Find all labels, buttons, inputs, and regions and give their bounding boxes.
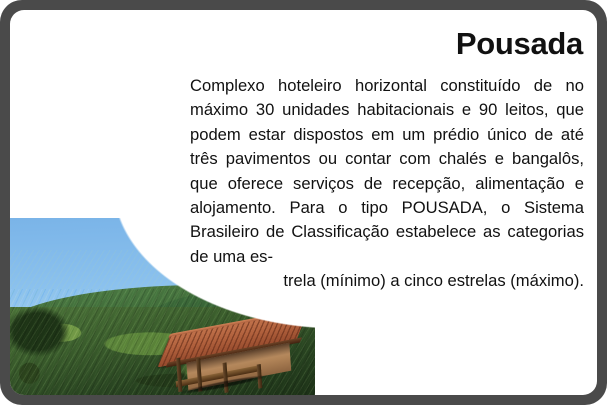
- body-paragraph: Complexo hoteleiro horizontal constituíd…: [190, 74, 584, 294]
- body-paragraph-last-line: trela (mínimo) a cinco estrelas (máximo)…: [190, 269, 584, 293]
- page-title: Pousada: [183, 28, 583, 61]
- slide-canvas: Pousada Complexo hoteleiro horizontal co…: [10, 10, 597, 395]
- body-paragraph-text: Complexo hoteleiro horizontal constituíd…: [190, 76, 584, 266]
- slide-frame: Pousada Complexo hoteleiro horizontal co…: [0, 0, 607, 405]
- photo-house: [158, 313, 311, 395]
